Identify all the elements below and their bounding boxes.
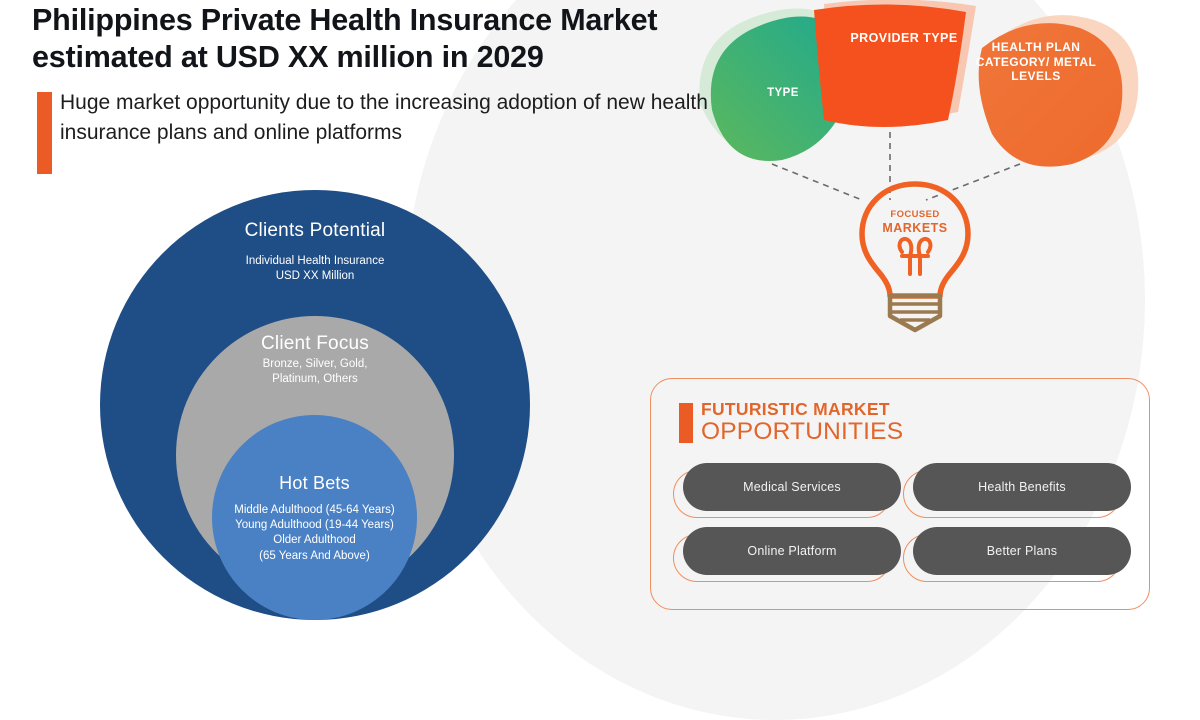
fmo-heading: FUTURISTIC MARKET OPPORTUNITIES xyxy=(679,401,1149,445)
opportunity-pill-health-benefits[interactable]: Health Benefits xyxy=(913,463,1131,511)
page-subtitle: Huge market opportunity due to the incre… xyxy=(60,88,772,148)
opportunity-pill-online-platform[interactable]: Online Platform xyxy=(683,527,901,575)
circle-middle-title: Client Focus xyxy=(261,333,369,355)
opportunity-slot: Better Plans xyxy=(909,527,1127,575)
subtitle-block: Huge market opportunity due to the incre… xyxy=(32,88,772,148)
futuristic-opportunities-panel: FUTURISTIC MARKET OPPORTUNITIES Medical … xyxy=(650,378,1150,610)
page-title: Philippines Private Health Insurance Mar… xyxy=(32,2,772,76)
fmo-title-line2: OPPORTUNITIES xyxy=(701,419,1149,445)
opportunity-pill-grid: Medical Services Health Benefits Online … xyxy=(679,463,1127,575)
circle-inner-desc: Middle Adulthood (45-64 Years) Young Adu… xyxy=(234,503,394,564)
circle-outer-title: Clients Potential xyxy=(245,220,386,242)
circle-inner-title: Hot Bets xyxy=(279,473,350,494)
bulb-label: FOCUSED MARKETS xyxy=(840,210,990,235)
segment-label-health-plan-category: HEALTH PLAN CATEGORY/ METAL LEVELS xyxy=(968,40,1104,84)
bulb-label-line1: FOCUSED xyxy=(840,210,990,221)
opportunity-pill-medical-services[interactable]: Medical Services xyxy=(683,463,901,511)
bulb-label-line2: MARKETS xyxy=(840,221,990,235)
segment-label-provider-type: PROVIDER TYPE xyxy=(824,31,984,46)
circle-middle-desc: Bronze, Silver, Gold, Platinum, Others xyxy=(263,357,368,387)
circle-hot-bets: Hot Bets Middle Adulthood (45-64 Years) … xyxy=(212,415,417,620)
segment-provider-shape[interactable] xyxy=(814,4,966,127)
focused-markets-bulb: FOCUSED MARKETS xyxy=(840,178,990,338)
opportunity-slot: Online Platform xyxy=(679,527,897,575)
fmo-title-line1: FUTURISTIC MARKET xyxy=(701,401,1149,419)
lightbulb-icon xyxy=(840,178,990,338)
opportunity-slot: Medical Services xyxy=(679,463,897,511)
opportunity-pill-better-plans[interactable]: Better Plans xyxy=(913,527,1131,575)
infographic-canvas: Philippines Private Health Insurance Mar… xyxy=(0,0,1200,600)
circle-outer-desc: Individual Health Insurance USD XX Milli… xyxy=(246,254,385,284)
accent-bar xyxy=(37,92,52,174)
opportunity-slot: Health Benefits xyxy=(909,463,1127,511)
header-block: Philippines Private Health Insurance Mar… xyxy=(32,2,772,148)
fmo-accent-bar xyxy=(679,403,693,443)
